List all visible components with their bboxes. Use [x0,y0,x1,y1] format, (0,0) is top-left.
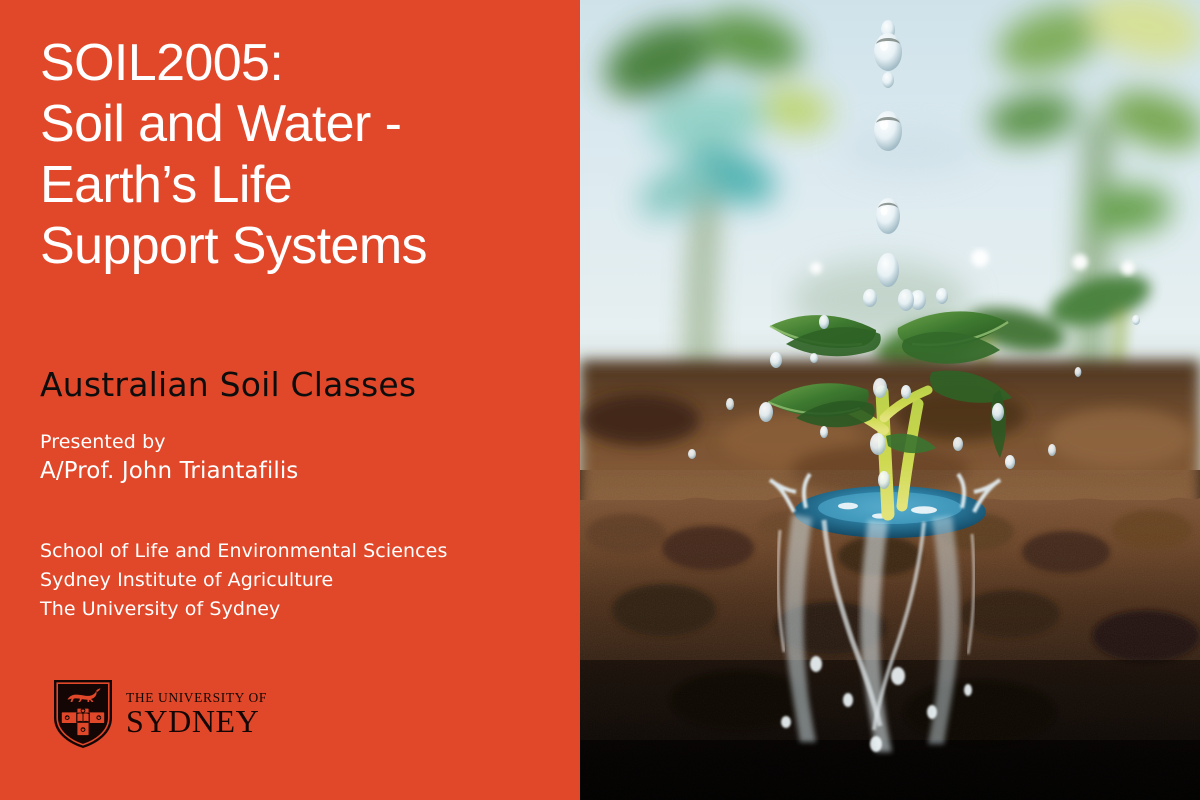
logo-line-sydney: SYDNEY [126,705,267,737]
university-of-sydney-logo: THE UNIVERSITY OF SYDNEY [52,678,267,750]
sydney-shield-crest-icon [52,678,114,750]
affiliation-line-3: The University of Sydney [40,595,447,624]
presented-by-label: Presented by [40,428,298,456]
title-line-4: Support Systems [40,216,560,277]
slide-subtitle: Australian Soil Classes [40,365,416,404]
presentation-slide: SOIL2005: Soil and Water - Earth’s Life … [0,0,1200,800]
logo-wordmark: THE UNIVERSITY OF SYDNEY [126,691,267,738]
left-text-panel: SOIL2005: Soil and Water - Earth’s Life … [0,0,580,800]
presenter-name: A/Prof. John Triantafilis [40,456,298,487]
title-line-3: Earth’s Life [40,155,560,216]
seedling-soil-photo [580,0,1200,800]
affiliation-line-1: School of Life and Environmental Science… [40,537,447,566]
title-line-2: Soil and Water - [40,94,560,155]
seedling-photo-illustration [580,0,1200,800]
title-line-1: SOIL2005: [40,33,560,94]
page-title: SOIL2005: Soil and Water - Earth’s Life … [40,33,560,277]
affiliation-line-2: Sydney Institute of Agriculture [40,566,447,595]
affiliation-block: School of Life and Environmental Science… [40,537,447,624]
presenter-block: Presented by A/Prof. John Triantafilis [40,428,298,487]
logo-line-the-university-of: THE UNIVERSITY OF [126,691,267,705]
